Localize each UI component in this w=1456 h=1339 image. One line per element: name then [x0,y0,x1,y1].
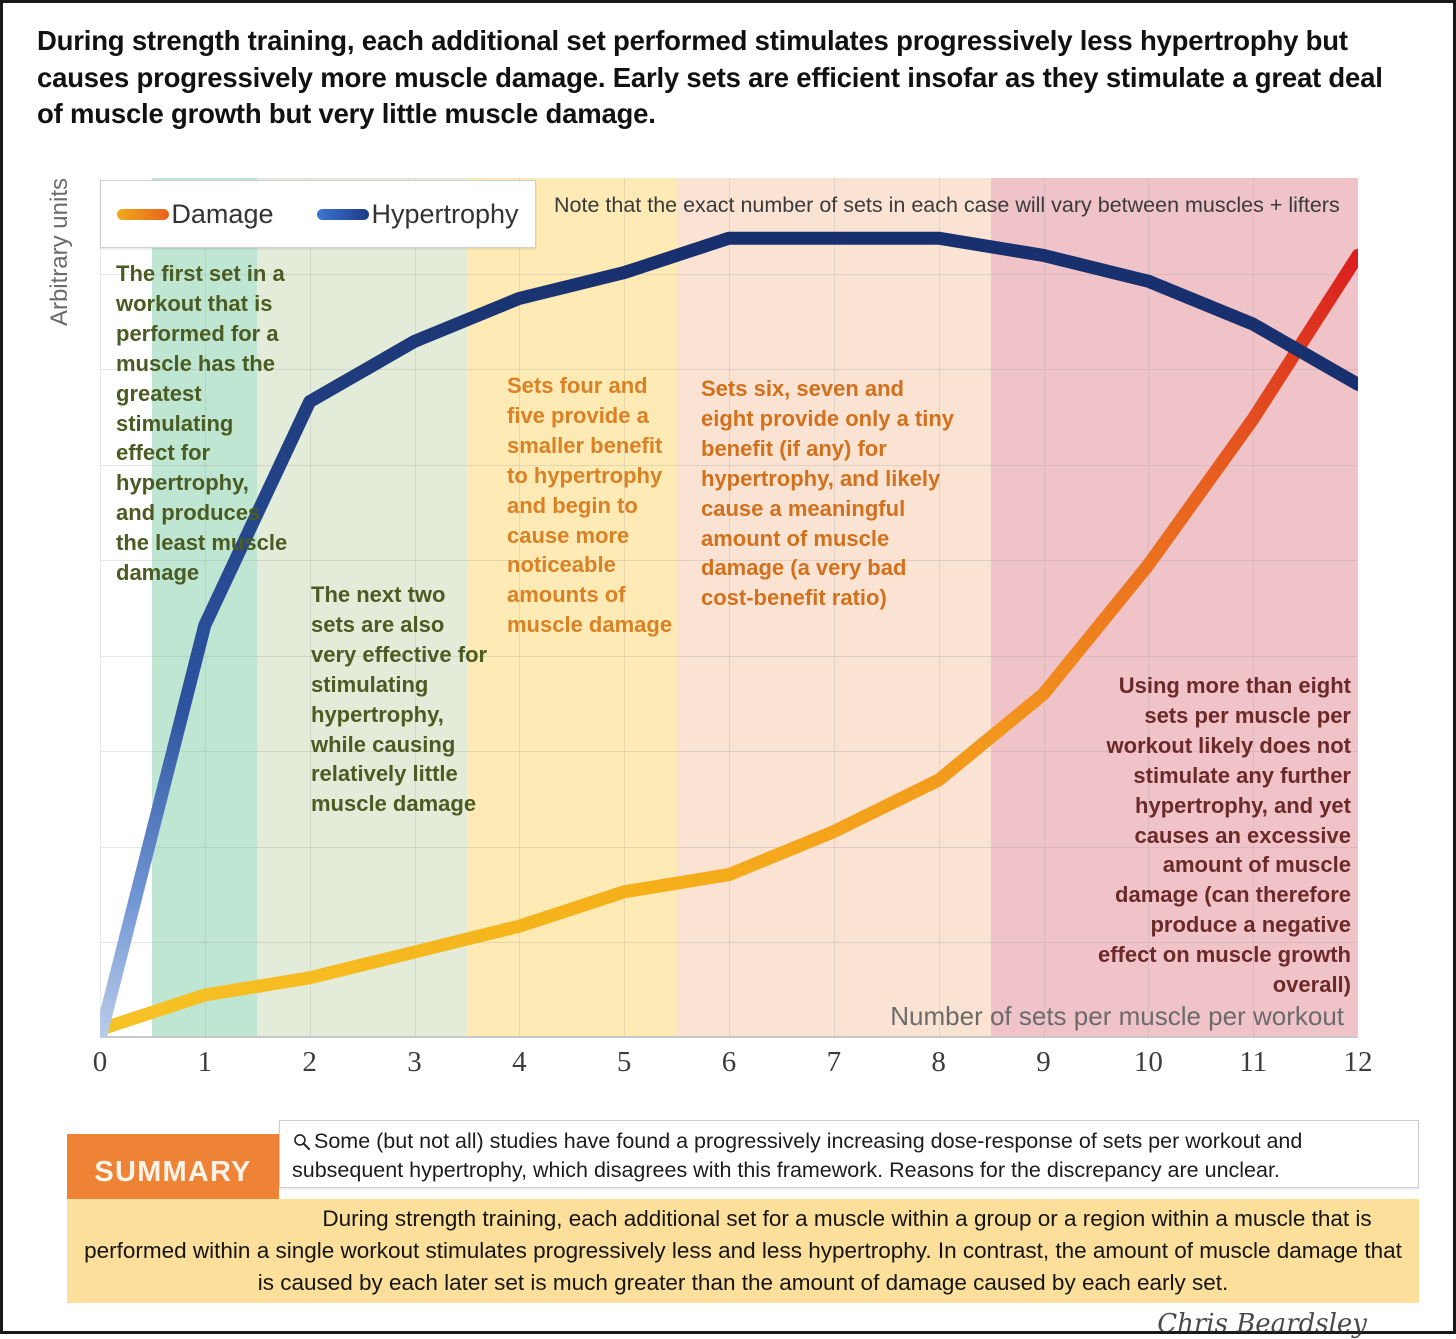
legend-label-hypertrophy: Hypertrophy [371,199,518,230]
chart-legend: Damage Hypertrophy [100,180,536,248]
legend-label-damage: Damage [171,199,273,230]
hypertrophy-color-swatch [317,209,369,220]
annotation-next-two-sets: The next two sets are also very effectiv… [311,580,493,819]
legend-item-damage[interactable]: Damage [117,199,273,230]
x-tick-label: 3 [407,1046,422,1079]
x-tick-label: 12 [1344,1046,1373,1079]
legend-item-hypertrophy[interactable]: Hypertrophy [317,199,518,230]
x-tick-label: 11 [1239,1046,1267,1079]
study-note-box: Some (but not all) studies have found a … [279,1120,1419,1188]
x-tick-label: 6 [722,1046,737,1079]
summary-body-text: During strength training, each additiona… [67,1199,1419,1303]
y-axis-label: Arbitrary units [43,178,77,438]
x-tick-label: 9 [1036,1046,1051,1079]
x-tick-label: 4 [512,1046,527,1079]
x-tick-label: 1 [198,1046,213,1079]
annotation-sets-four-five: Sets four and five provide a smaller ben… [507,371,683,640]
chart-note: Note that the exact number of sets in ea… [554,193,1340,218]
page-title: During strength training, each additiona… [37,23,1407,133]
author-signature: Chris Beardsley [1157,1309,1367,1339]
x-tick-label: 8 [931,1046,946,1079]
summary-badge-label: SUMMARY [94,1156,251,1189]
x-tick-label: 5 [617,1046,632,1079]
x-tick-label: 2 [302,1046,317,1079]
x-tick-label: 7 [827,1046,842,1079]
x-axis-ticks: 0123456789101112 [100,1046,1358,1090]
damage-color-swatch [117,209,169,220]
x-tick-label: 0 [93,1046,108,1079]
annotation-sets-six-eight: Sets six, seven and eight provide only a… [701,374,956,613]
y-axis-label-text: Arbitrary units [46,178,74,326]
x-tick-label: 10 [1134,1046,1163,1079]
magnifier-icon [292,1132,311,1151]
annotation-first-set: The first set in a workout that is perfo… [116,259,294,588]
study-note-text: Some (but not all) studies have found a … [292,1129,1302,1182]
annotation-more-than-eight: Using more than eight sets per muscle pe… [1093,671,1351,1000]
